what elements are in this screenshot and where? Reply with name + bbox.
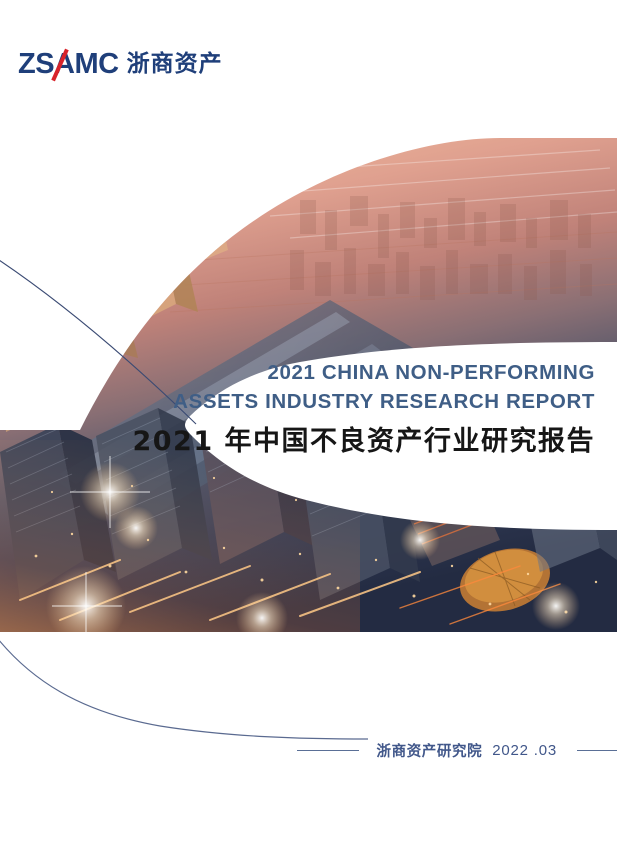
cover-footer: 浙商资产研究院 2022 .03 <box>0 738 617 762</box>
footer-date: 2022 .03 <box>492 742 557 759</box>
logo-wordmark-text: ZSAMC <box>18 48 119 80</box>
footer-rule-right <box>577 750 617 751</box>
bottom-decorative-curve <box>0 630 617 810</box>
title-chinese: 2021 年中国不良资产行业研究报告 <box>0 425 595 459</box>
hero-image-svg <box>0 0 617 640</box>
logo-wordmark: ZSAMC <box>18 50 119 79</box>
hero-image <box>0 0 617 640</box>
cover-title-block: 2021 CHINA NON-PERFORMING ASSETS INDUSTR… <box>0 358 617 459</box>
report-cover-page: ZSAMC 浙商资产 2021 CHINA NON-PERFORMING ASS… <box>0 0 617 867</box>
logo-company-name-cn: 浙商资产 <box>127 53 223 76</box>
company-logo: ZSAMC 浙商资产 <box>18 50 223 79</box>
footer-rule-left <box>297 750 359 751</box>
sweeping-curve-line <box>0 634 368 739</box>
bottom-curve-svg <box>0 630 617 810</box>
title-english-line-2: ASSETS INDUSTRY RESEARCH REPORT <box>0 387 595 416</box>
footer-institute: 浙商资产研究院 <box>377 740 483 761</box>
title-english-line-1: 2021 CHINA NON-PERFORMING <box>0 358 595 387</box>
